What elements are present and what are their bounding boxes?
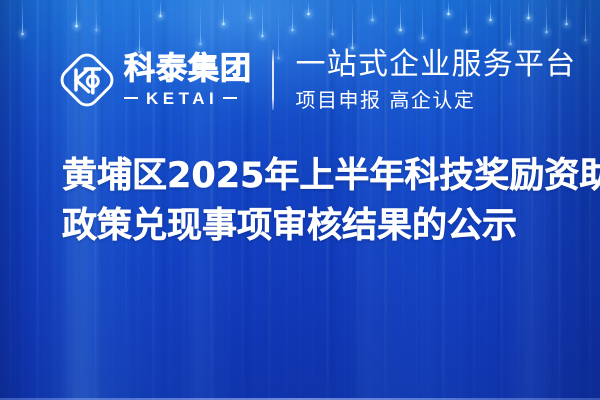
page-title-line-1: 黄埔区2025年上半年科技奖励资助 <box>62 152 562 202</box>
light-particle <box>308 0 309 14</box>
light-particle <box>400 0 401 30</box>
page-title: 黄埔区2025年上半年科技奖励资助 政策兑现事项审核结果的公示 <box>62 152 562 251</box>
tagline-secondary: 项目申报 高企认定 <box>296 89 577 111</box>
brand-wordmark: 科泰集团 KETAI <box>124 54 252 107</box>
ketai-diamond-kt-monogram-icon <box>58 51 116 109</box>
light-particle <box>332 12 333 34</box>
light-particle <box>546 0 547 32</box>
tagline-block: 一站式企业服务平台 项目申报 高企认定 <box>296 49 577 110</box>
light-particle <box>262 0 263 36</box>
wordmark-rule-right <box>223 97 237 100</box>
light-particle <box>448 0 449 14</box>
light-particle <box>352 0 353 48</box>
page-title-line-2: 政策兑现事项审核结果的公示 <box>62 202 562 252</box>
banner-header: 科泰集团 KETAI 一站式企业服务平台 项目申报 高企认定 <box>58 42 576 118</box>
brand-name-cn: 科泰集团 <box>124 54 252 85</box>
announcement-banner: 科泰集团 KETAI 一站式企业服务平台 项目申报 高企认定 黄埔区2025年上… <box>0 0 600 400</box>
light-particle <box>422 0 423 38</box>
header-divider <box>272 50 274 110</box>
brand-logo: 科泰集团 KETAI <box>58 51 252 109</box>
light-particle <box>160 0 161 16</box>
light-particle <box>292 0 293 30</box>
light-particle <box>585 0 586 40</box>
light-particle <box>223 0 224 24</box>
light-particle <box>566 0 567 24</box>
light-particle <box>490 0 491 20</box>
tagline-primary: 一站式企业服务平台 <box>296 49 577 81</box>
light-particle <box>466 6 467 32</box>
light-particle <box>76 0 77 26</box>
light-particle <box>22 0 23 34</box>
light-particle <box>96 10 97 30</box>
brand-name-en: KETAI <box>144 90 218 107</box>
light-particle <box>250 0 251 18</box>
light-particle <box>510 0 511 44</box>
light-particle <box>372 0 373 20</box>
wordmark-rule-left <box>124 97 138 100</box>
brand-name-en-row: KETAI <box>124 90 252 107</box>
light-particle <box>200 0 201 44</box>
light-particle <box>528 0 529 18</box>
